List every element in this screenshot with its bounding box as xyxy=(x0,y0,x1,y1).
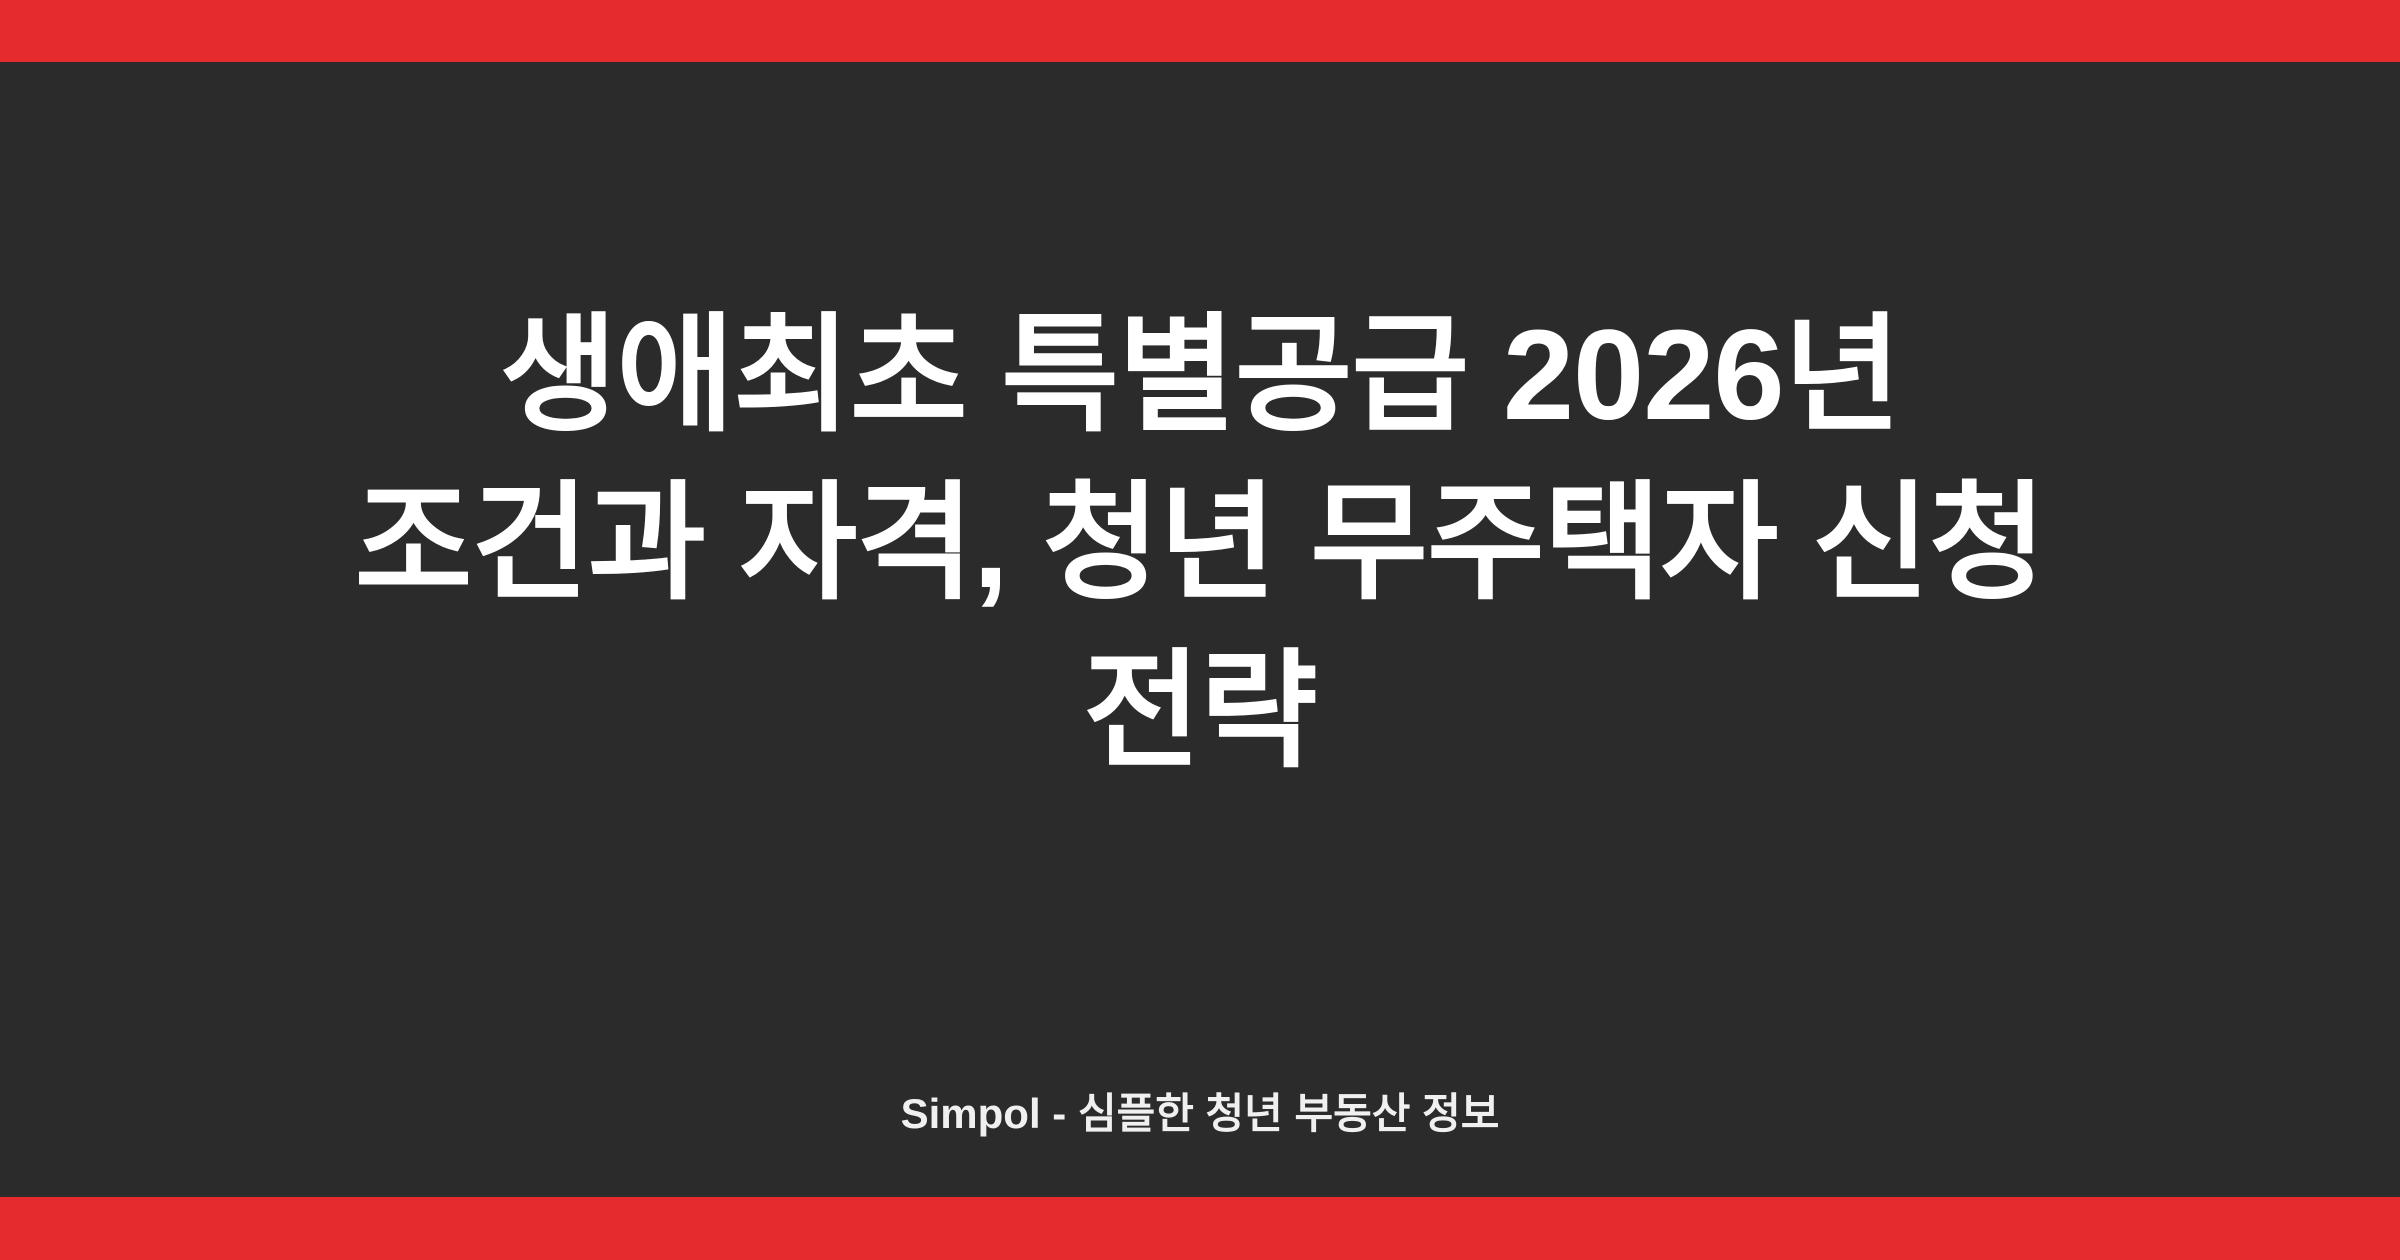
bottom-accent-bar xyxy=(0,1197,2400,1260)
thumbnail-card: 생애최초 특별공급 2026년 조건과 자격, 청년 무주택자 신청 전략 Si… xyxy=(0,0,2400,1260)
page-title: 생애최초 특별공급 2026년 조건과 자격, 청년 무주택자 신청 전략 xyxy=(0,292,2400,796)
footer-branding: Simpol - 심플한 청년 부동산 정보 xyxy=(0,1086,2400,1142)
title-line-3: 전략 xyxy=(1083,628,1317,796)
top-accent-bar xyxy=(0,0,2400,62)
footer-brand-tagline: Simpol - 심플한 청년 부동산 정보 xyxy=(901,1086,1500,1142)
card-body: 생애최초 특별공급 2026년 조건과 자격, 청년 무주택자 신청 전략 Si… xyxy=(0,62,2400,1197)
title-line-1: 생애최초 특별공급 2026년 xyxy=(500,292,1901,460)
title-line-2: 조건과 자격, 청년 무주택자 신청 xyxy=(355,460,2046,628)
